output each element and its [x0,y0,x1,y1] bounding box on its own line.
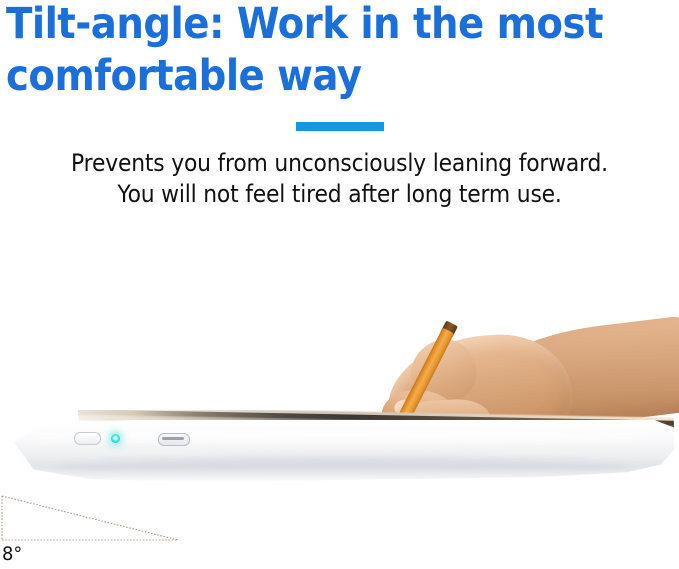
product-feature-slide: Tilt-angle: Work in the most comfortable… [0,0,679,569]
angle-hypotenuse [2,496,178,540]
subtitle: Prevents you from unconsciously leaning … [0,148,679,210]
white-drawing-tablet [14,410,674,492]
angle-label: 8° [2,543,22,565]
led-indicator [111,434,120,443]
bezel-shadow [54,458,635,477]
usb-c-port [158,433,190,446]
subtitle-line-1: Prevents you from unconsciously leaning … [31,148,649,179]
device-front-bezel [14,420,674,482]
product-photo [0,250,679,510]
power-button[interactable] [74,432,101,445]
page-title: Tilt-angle: Work in the most comfortable… [6,0,607,102]
bezel-highlight [27,431,647,447]
tilt-angle-diagram [0,490,200,546]
accent-divider-bar [296,122,384,131]
divider-container [0,122,679,134]
subtitle-line-2: You will not feel tired after long term … [31,179,649,210]
